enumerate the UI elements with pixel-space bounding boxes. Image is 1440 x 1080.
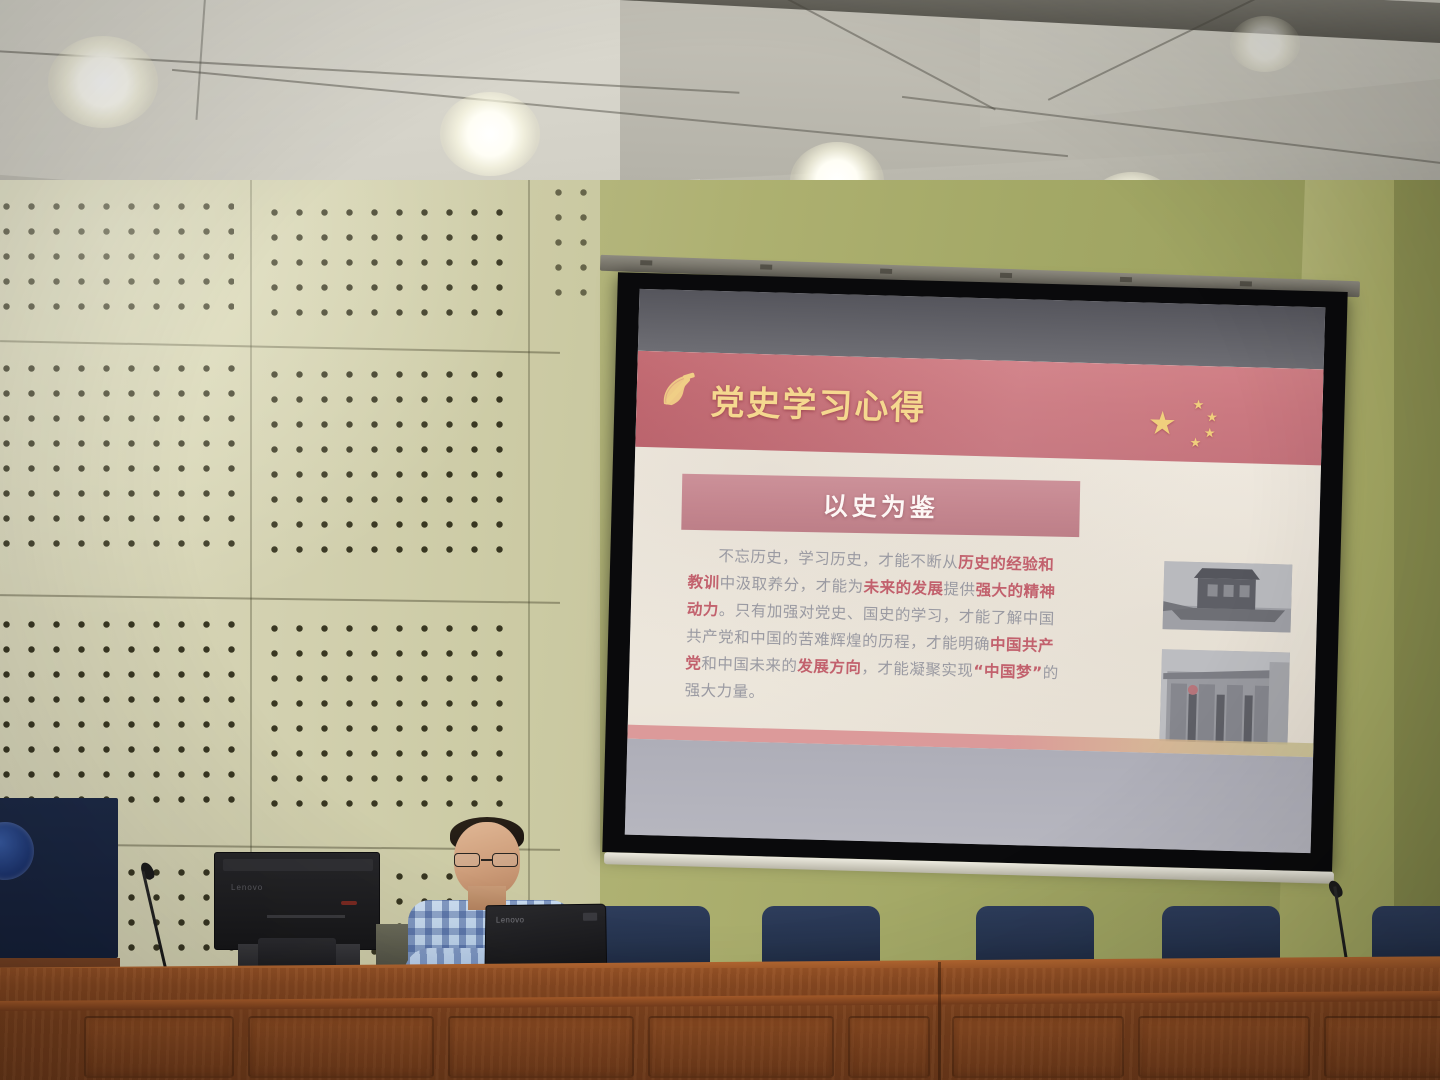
slide-text-run: 和中国未来的 xyxy=(701,655,797,676)
perforated-panel xyxy=(0,194,234,312)
monitor-top-bezel xyxy=(223,859,373,871)
cpc-first-congress-site-photo xyxy=(1159,649,1289,744)
building-illustration xyxy=(1159,649,1289,744)
slide-text-run: 不忘历史，学习历史，才能不断从 xyxy=(718,547,958,571)
china-flag-stars: ★ ★ ★ ★ ★ xyxy=(1145,399,1266,458)
cpc-hammer-sickle-emblem xyxy=(654,367,701,414)
podium-emblem xyxy=(0,822,34,880)
slide-body-text: 不忘历史，学习历史，才能不断从历史的经验和教训中汲取养分，才能为未来的发展提供强… xyxy=(684,542,1070,714)
desk-panel xyxy=(1324,1016,1440,1078)
conference-chair xyxy=(592,906,710,968)
lenovo-monitor: Lenovo xyxy=(214,852,380,950)
flag-big-star: ★ xyxy=(1148,407,1178,440)
conference-room-photo: 党史学习心得 ★ ★ ★ ★ ★ 以史为鉴 不忘历史，学习历史，才能不断从历史的… xyxy=(0,0,1440,1080)
projection-screen: 党史学习心得 ★ ★ ★ ★ ★ 以史为鉴 不忘历史，学习历史，才能不断从历史的… xyxy=(602,272,1347,872)
ceiling-downlight xyxy=(440,92,540,176)
gooseneck-microphone xyxy=(142,862,172,980)
presenter-glasses xyxy=(454,853,522,868)
perforated-panel xyxy=(262,616,514,816)
slide-text-emphasis: 未来的发展 xyxy=(863,578,943,598)
letterbox-bottom xyxy=(625,739,1313,854)
screen-surface: 党史学习心得 ★ ★ ★ ★ ★ 以史为鉴 不忘历史，学习历史，才能不断从历史的… xyxy=(625,289,1326,853)
desk-section-split xyxy=(938,962,941,1080)
monitor-brand-label: Lenovo xyxy=(231,883,263,892)
slide-text-run: 中汲取养分，才能为 xyxy=(719,574,863,596)
flag-small-star: ★ xyxy=(1206,410,1218,423)
desk-panel xyxy=(84,1016,234,1078)
conference-chair xyxy=(762,906,880,968)
laptop-brand-label: Lenovo xyxy=(496,915,525,924)
slide-section-banner: 以史为鉴 xyxy=(681,474,1080,537)
boat-illustration xyxy=(1163,561,1293,632)
flag-small-star: ★ xyxy=(1204,426,1216,439)
slide-text-run: 提供 xyxy=(943,580,975,599)
flag-small-star: ★ xyxy=(1189,436,1201,449)
presentation-slide: 党史学习心得 ★ ★ ★ ★ ★ 以史为鉴 不忘历史，学习历史，才能不断从历史的… xyxy=(627,351,1323,757)
perforated-panel xyxy=(0,356,240,562)
slide-header: 党史学习心得 ★ ★ ★ ★ ★ xyxy=(635,351,1323,466)
slide-banner-heading: 以史为鉴 xyxy=(822,486,939,524)
perforated-panel xyxy=(262,362,514,568)
desk-panel xyxy=(448,1016,634,1078)
slide-text-run: ，才能凝聚实现 xyxy=(861,659,973,680)
monitor-stand-slot xyxy=(267,915,345,918)
slide-title: 党史学习心得 xyxy=(710,375,927,430)
desk-panel xyxy=(648,1016,834,1078)
desk-panel xyxy=(1138,1016,1310,1078)
speaker-podium xyxy=(0,798,118,958)
ceiling-downlight xyxy=(1230,16,1300,72)
nanhu-red-boat-photo xyxy=(1163,561,1293,632)
perforated-panel xyxy=(546,180,592,300)
laptop-lid-badge xyxy=(583,913,597,921)
desk-panel xyxy=(248,1016,434,1078)
flag-small-star: ★ xyxy=(1192,398,1204,411)
perforated-panel xyxy=(262,200,512,318)
slide-text-emphasis: “中国梦” xyxy=(973,662,1043,682)
desk-panel xyxy=(952,1016,1124,1078)
slide-text-emphasis: 发展方向 xyxy=(797,657,861,677)
perforated-panel xyxy=(0,612,240,812)
desk-panel xyxy=(848,1016,930,1078)
ceiling-downlight xyxy=(48,36,158,128)
monitor-power-indicator xyxy=(341,901,357,905)
